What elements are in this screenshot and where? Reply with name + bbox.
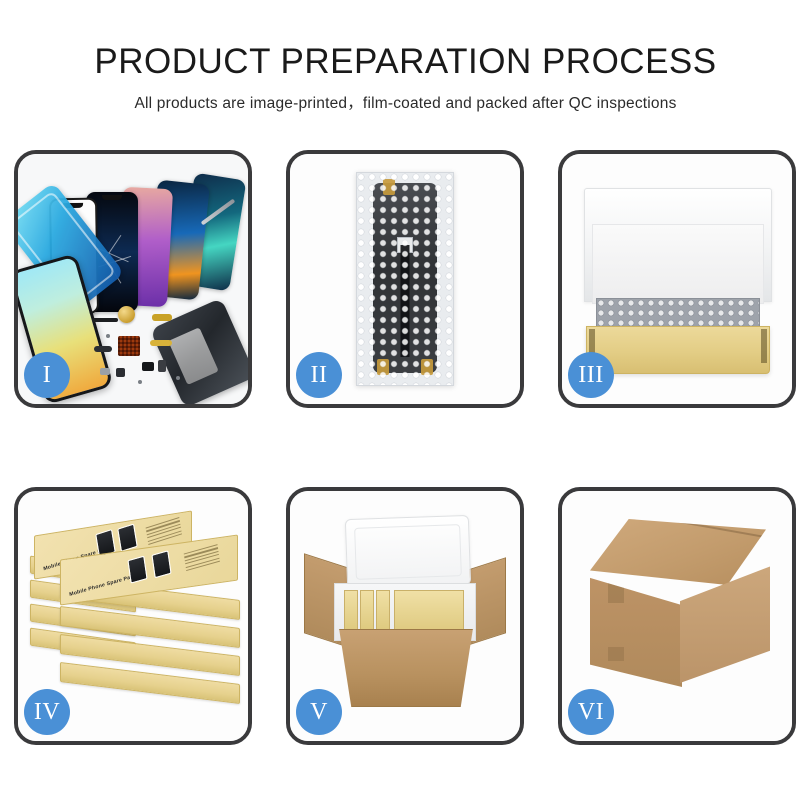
- step-badge-3: III: [568, 352, 614, 398]
- step-2-image: II: [290, 154, 520, 404]
- step-panel-4: Mobile Phone Spare Parts Mobile Phone Sp…: [14, 487, 252, 745]
- gold-tape-tab: [383, 179, 395, 195]
- foam-lid-open: [345, 515, 471, 589]
- carton-tape-patch: [608, 647, 624, 661]
- part-screw: [138, 380, 142, 384]
- box-stack: Mobile Phone Spare Parts Mobile Phone Sp…: [30, 515, 242, 715]
- step-1-image: I: [18, 154, 248, 404]
- carton-tape-patch: [608, 583, 624, 603]
- step-panel-3: III: [558, 150, 796, 408]
- spare-parts-cluster: [92, 306, 200, 390]
- box-label-thumbnail: [127, 556, 147, 584]
- box-label-thumbnail: [151, 550, 171, 578]
- part-coil: [118, 306, 135, 323]
- lcd-flex-cable: [401, 245, 410, 357]
- bubble-wrap-package: [356, 172, 454, 386]
- page-title: PRODUCT PREPARATION PROCESS: [0, 42, 811, 82]
- gold-tape-tab: [377, 359, 389, 375]
- step-badge-4: IV: [24, 689, 70, 735]
- step-badge-5: V: [296, 689, 342, 735]
- part-flex-cable: [152, 314, 172, 321]
- gold-box-in-carton: [376, 590, 390, 634]
- step-6-image: VI: [562, 491, 792, 741]
- page-subtitle: All products are image-printed，film-coat…: [0, 91, 811, 113]
- gold-box-in-carton: [344, 590, 358, 634]
- carton-body: [330, 629, 482, 707]
- part-flex-cable: [94, 346, 112, 352]
- part-flex-cable: [150, 340, 172, 346]
- box-label-spec-lines: [184, 544, 220, 573]
- box-label-text-front: Mobile Phone Spare Parts: [69, 573, 138, 598]
- step-badge-1: I: [24, 352, 70, 398]
- step-badge-6: VI: [568, 689, 614, 735]
- part-button: [158, 360, 166, 372]
- process-steps-grid: I II III: [14, 150, 797, 745]
- step-panel-5: V: [286, 487, 524, 745]
- step-badge-2: II: [296, 352, 342, 398]
- gold-tape-tab: [421, 359, 433, 375]
- page-header: PRODUCT PREPARATION PROCESS All products…: [0, 0, 811, 113]
- part-speaker-bar: [92, 318, 118, 322]
- step-4-image: Mobile Phone Spare Parts Mobile Phone Sp…: [18, 491, 248, 741]
- step-panel-1: I: [14, 150, 252, 408]
- carton-face-left: [590, 563, 682, 687]
- part-connector: [116, 368, 125, 377]
- foam-liner: [592, 224, 764, 304]
- carton-face-top: [590, 519, 766, 585]
- gold-box-base: [586, 326, 770, 374]
- step-3-image: III: [562, 154, 792, 404]
- part-camera-module: [142, 362, 154, 371]
- step-panel-2: II: [286, 150, 524, 408]
- part-copper-grid: [118, 336, 140, 356]
- sealed-carton: [576, 519, 780, 695]
- part-screw: [106, 334, 110, 338]
- part-screw: [176, 376, 180, 380]
- gold-box-in-carton: [360, 590, 374, 634]
- step-5-image: V: [290, 491, 520, 741]
- step-panel-6: VI: [558, 487, 796, 745]
- part-chip: [100, 368, 110, 375]
- box-label-thumbnail: [117, 523, 138, 551]
- screen-notch: [102, 195, 122, 200]
